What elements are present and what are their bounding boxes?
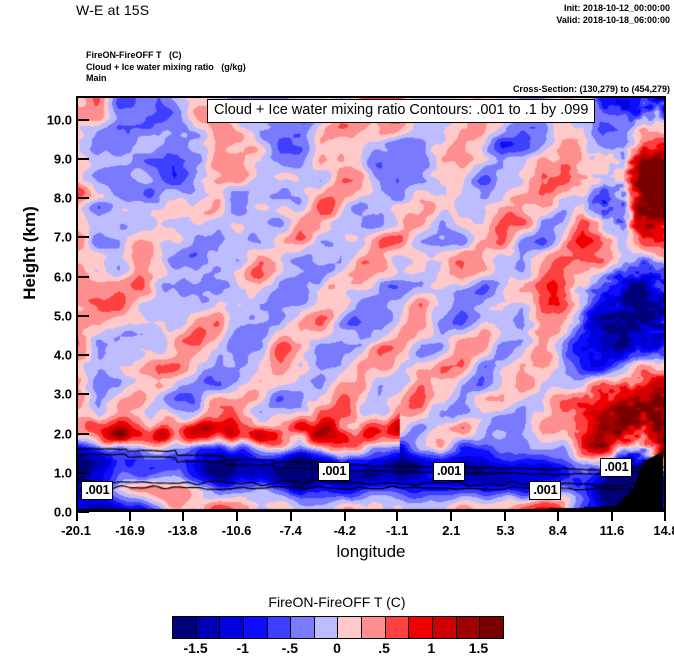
contour-label: .001 [433, 462, 465, 481]
colorbar [172, 616, 504, 639]
colorbar-cell [197, 617, 221, 638]
x-tick-label: 8.4 [549, 523, 567, 538]
colorbar-title: FireON-FireOFF T (C) [0, 594, 674, 610]
colorbar-tick-label: 0 [333, 640, 341, 656]
y-tick-label: 10.0 [2, 112, 72, 127]
y-tick-label: 1.0 [2, 465, 72, 480]
x-tick-mark [557, 512, 559, 521]
x-tick-label: -10.6 [222, 523, 252, 538]
init-valid-times: Init: 2018-10-12_00:00:00 Valid: 2018-10… [556, 2, 670, 26]
colorbar-cell [433, 617, 457, 638]
y-tick-label: 3.0 [2, 387, 72, 402]
x-tick-mark [182, 512, 184, 521]
x-tick-mark [396, 512, 398, 521]
contour-label: .001 [600, 458, 632, 477]
colorbar-tick-labels: -1.5-1-.50.511.5 [172, 640, 505, 662]
x-tick-label: -16.9 [115, 523, 145, 538]
colorbar-cell [173, 617, 197, 638]
init-time: Init: 2018-10-12_00:00:00 [556, 2, 670, 14]
y-tick-label: 0.0 [2, 505, 72, 520]
page-title: W-E at 15S [76, 2, 149, 18]
colorbar-cell [362, 617, 386, 638]
valid-time: Valid: 2018-10-18_06:00:00 [556, 14, 670, 26]
x-tick-mark [611, 512, 613, 521]
x-tick-label: 14.8 [653, 523, 674, 538]
colorbar-tick-label: -1.5 [184, 640, 208, 656]
colorbar-tick-label: 1.5 [469, 640, 488, 656]
x-tick-mark [504, 512, 506, 521]
variable-subtitle: FireON-FireOFF T (C) Cloud + Ice water m… [86, 50, 246, 85]
colorbar-cell [244, 617, 268, 638]
x-tick-mark [76, 512, 78, 521]
colorbar-cell [291, 617, 315, 638]
cross-section-endpoints: Cross-Section: (130,279) to (454,279) [513, 84, 670, 94]
x-tick-label: 5.3 [496, 523, 514, 538]
contour-label: .001 [81, 481, 113, 500]
x-tick-mark [450, 512, 452, 521]
x-axis-label: longitude [76, 542, 666, 562]
colorbar-tick-label: .5 [378, 640, 390, 656]
colorbar-tick-label: -.5 [282, 640, 298, 656]
x-axis-ticks: -20.1-16.9-13.8-10.6-7.4-4.2-1.12.15.38.… [76, 512, 666, 546]
colorbar-tick-label: 1 [427, 640, 435, 656]
x-tick-label: -20.1 [61, 523, 91, 538]
x-tick-label: -7.4 [279, 523, 301, 538]
y-tick-label: 2.0 [2, 426, 72, 441]
colorbar-tick-label: -1 [236, 640, 248, 656]
contour-labels: .001.001.001.001.001 [76, 96, 666, 512]
x-tick-mark [236, 512, 238, 521]
colorbar-cell [268, 617, 292, 638]
contour-label: .001 [318, 462, 350, 481]
contour-label: .001 [529, 481, 561, 500]
colorbar-cell [386, 617, 410, 638]
colorbar-cell [338, 617, 362, 638]
colorbar-cell [220, 617, 244, 638]
colorbar-cell [480, 617, 503, 638]
colorbar-cell [315, 617, 339, 638]
colorbar-cell [409, 617, 433, 638]
x-tick-label: -1.1 [386, 523, 408, 538]
y-axis-label: Height (km) [20, 153, 40, 353]
x-tick-mark [664, 512, 666, 521]
x-tick-mark [290, 512, 292, 521]
x-tick-mark [344, 512, 346, 521]
colorbar-cell [457, 617, 481, 638]
x-tick-label: 11.6 [600, 523, 625, 538]
x-tick-label: -13.8 [168, 523, 198, 538]
x-tick-label: 2.1 [442, 523, 460, 538]
x-tick-mark [129, 512, 131, 521]
x-tick-label: -4.2 [334, 523, 356, 538]
